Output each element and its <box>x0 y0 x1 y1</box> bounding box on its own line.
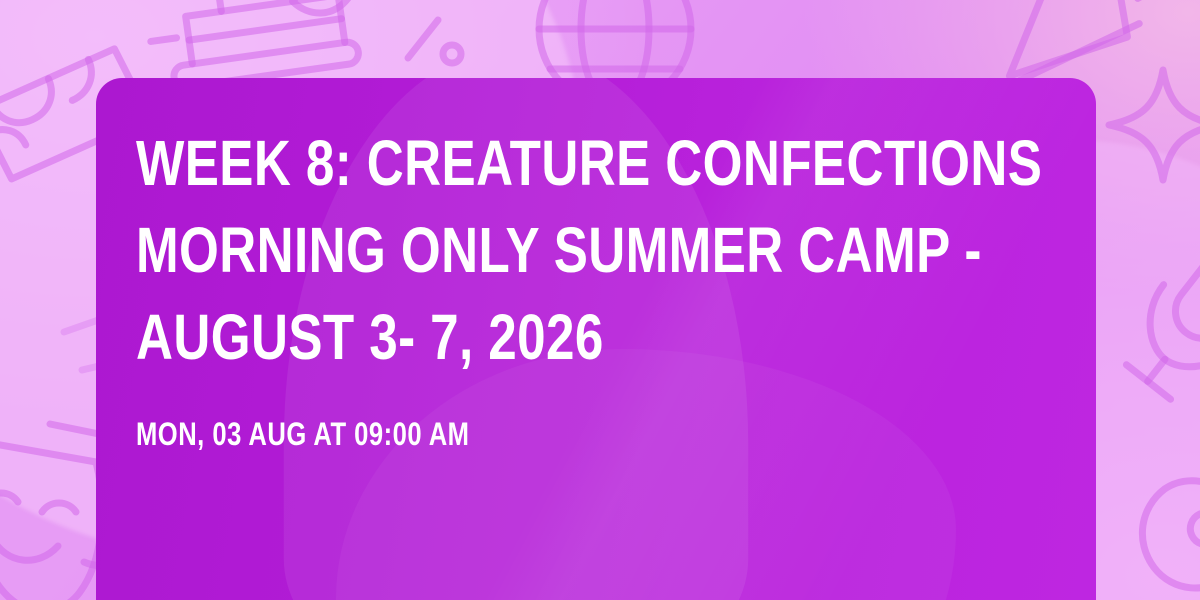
confetti-icon <box>398 6 468 76</box>
event-card-content: Week 8: Creature Confections Morning Onl… <box>96 78 1096 453</box>
microphone-icon <box>1120 236 1200 416</box>
event-card: Week 8: Creature Confections Morning Onl… <box>96 78 1096 600</box>
sparkle-icon <box>1098 60 1200 190</box>
guitar-icon <box>1112 410 1200 600</box>
event-title: Week 8: Creature Confections Morning Onl… <box>136 120 1056 381</box>
event-banner: Week 8: Creature Confections Morning Onl… <box>0 0 1200 600</box>
event-datetime: MON, 03 AUG AT 09:00 AM <box>136 415 1056 453</box>
